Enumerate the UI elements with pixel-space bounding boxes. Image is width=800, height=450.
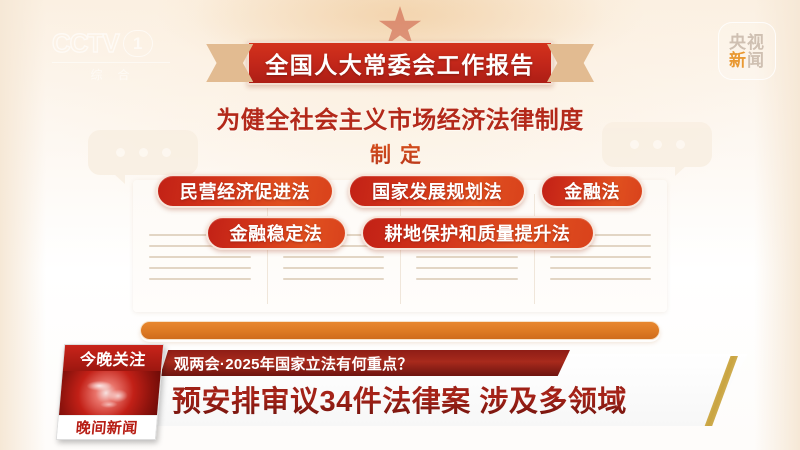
law-pill[interactable]: 国家发展规划法 xyxy=(348,174,526,208)
program-name-bar: 晚间新闻 xyxy=(57,415,157,439)
cctv-logo-text: CCTV xyxy=(52,28,119,59)
ribbon-end-left-icon xyxy=(206,44,253,82)
lower-third-topic-bar: 观两会·2025年国家立法有何重点？ xyxy=(160,350,570,376)
subtitle-main: 为健全社会主义市场经济法律制度 xyxy=(0,100,800,135)
law-pill[interactable]: 耕地保护和质量提升法 xyxy=(361,216,595,250)
lower-third: 观两会·2025年国家立法有何重点？ 预安排审议34件法律案 涉及多领域 今晚关… xyxy=(0,340,800,450)
law-pill[interactable]: 民营经济促进法 xyxy=(156,174,334,208)
cctv-news-logo: 央视 新闻 xyxy=(718,22,776,80)
law-pill-label: 耕地保护和质量提升法 xyxy=(385,220,571,246)
law-pill-label: 金融稳定法 xyxy=(230,220,323,246)
news-logo-char-wen: 闻 xyxy=(747,51,765,70)
globe-icon xyxy=(59,371,161,415)
cctv-sub-right: 合 xyxy=(118,66,132,83)
lower-third-topic: 观两会·2025年国家立法有何重点？ xyxy=(174,353,413,374)
program-tag-bar: 今晚关注 xyxy=(63,345,163,371)
program-name-label: 晚间新闻 xyxy=(75,417,139,438)
cctv-channel-watermark: CCTV 1 综 合 xyxy=(52,28,170,83)
lower-third-headline: 预安排审议34件法律案 涉及多领域 xyxy=(172,378,627,420)
news-logo-char-new: 新 xyxy=(729,51,747,70)
banner-title: 全国人大常委会工作报告 xyxy=(265,46,535,80)
broadcast-screen: 全国人大常委会工作报告 为健全社会主义市场经济法律制度 制定 民营经济促进法 国… xyxy=(0,0,800,450)
title-plaque: 全国人大常委会工作报告 xyxy=(247,41,553,85)
cctv-sub-left: 综 xyxy=(90,66,104,83)
subtitle-action: 制定 xyxy=(0,139,800,169)
law-pill-row-1: 民营经济促进法 国家发展规划法 金融法 xyxy=(0,174,800,208)
law-pill-row-2: 金融稳定法 耕地保护和质量提升法 xyxy=(0,216,800,250)
orange-accent-bar xyxy=(140,321,660,340)
law-pill[interactable]: 金融法 xyxy=(540,174,644,208)
law-pill[interactable]: 金融稳定法 xyxy=(206,216,347,250)
law-pill-label: 金融法 xyxy=(564,178,620,204)
program-tag-label: 今晚关注 xyxy=(79,346,147,370)
law-pill-label: 国家发展规划法 xyxy=(372,178,502,204)
program-logo-block: 今晚关注 晚间新闻 xyxy=(56,344,164,440)
law-pill-label: 民营经济促进法 xyxy=(180,178,310,204)
ribbon-end-right-icon xyxy=(547,44,594,82)
cctv-channel-number: 1 xyxy=(123,30,153,57)
news-logo-line1: 央视 xyxy=(729,34,765,51)
